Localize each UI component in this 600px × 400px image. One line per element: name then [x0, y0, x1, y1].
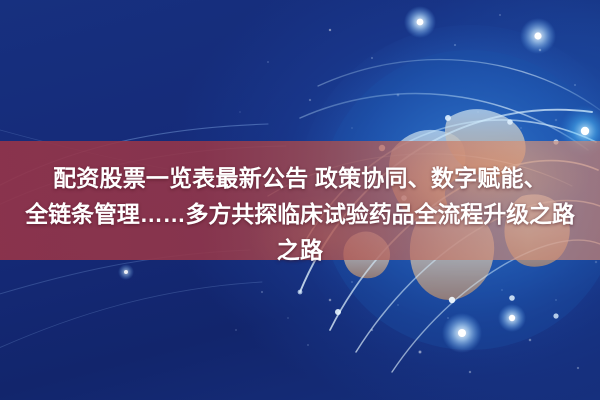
banner-image: 配资股票一览表最新公告 政策协同、数字赋能、 全链条管理……多方共探临床试验药品… — [0, 0, 600, 400]
headline-text: 配资股票一览表最新公告 政策协同、数字赋能、 全链条管理……多方共探临床试验药品… — [0, 160, 600, 268]
headline-line-2: 全链条管理……多方共探临床试验药品全流程升级之路 — [0, 196, 600, 232]
headline-line-3: 之路 — [0, 232, 600, 268]
headline-line-1: 配资股票一览表最新公告 政策协同、数字赋能、 — [0, 160, 600, 196]
